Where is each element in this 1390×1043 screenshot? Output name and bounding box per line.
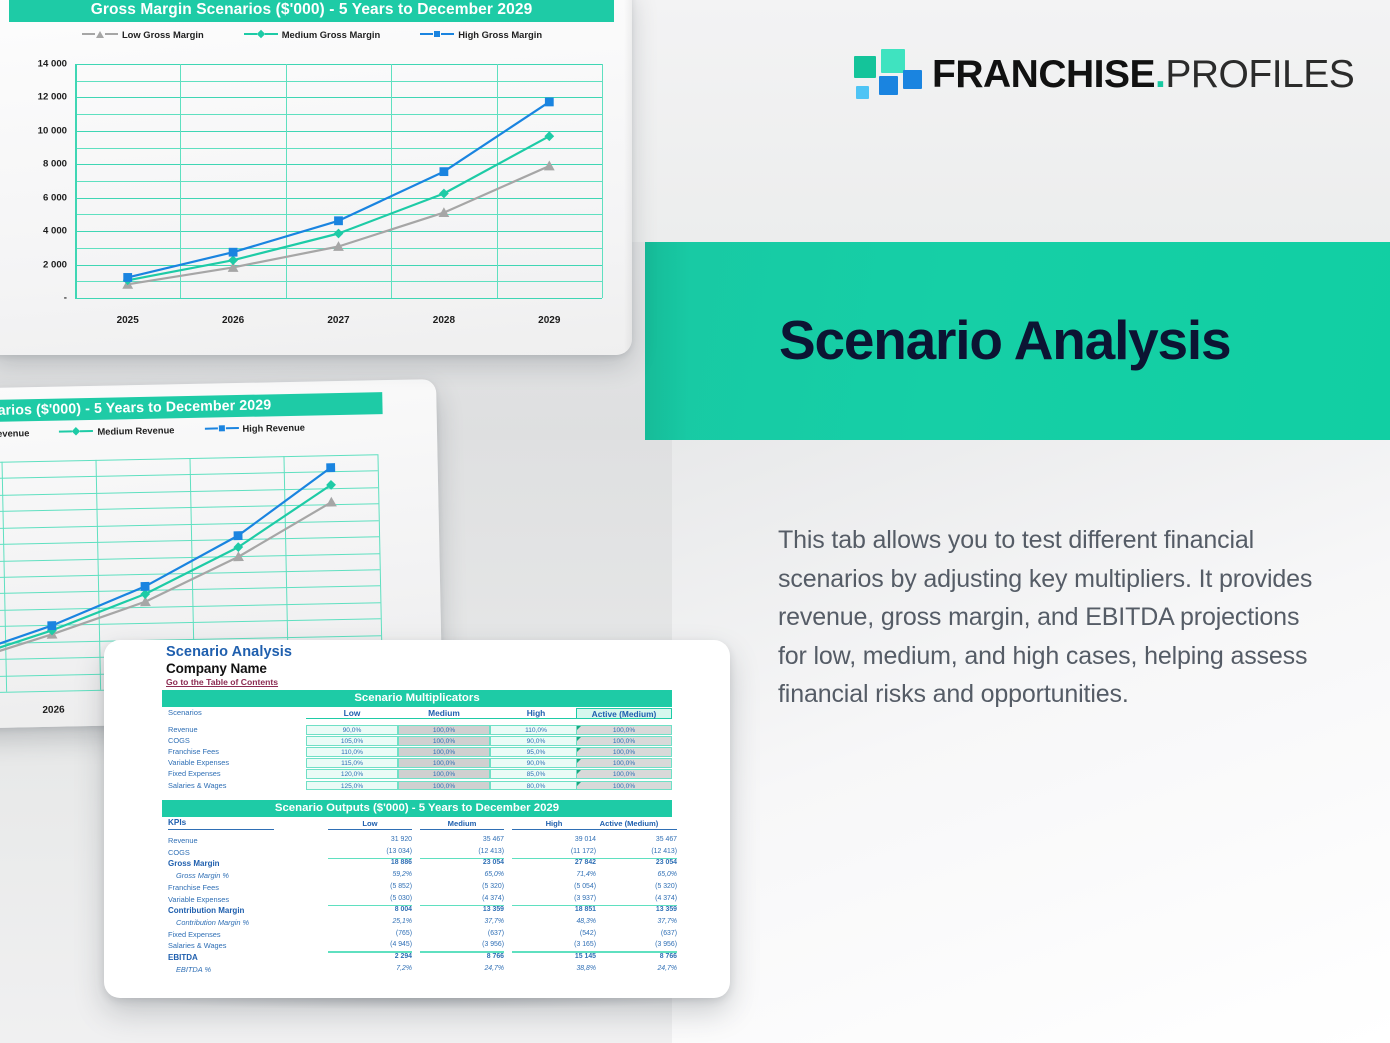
output-cell-medium: 23 054 [420, 859, 504, 866]
multiplicator-cell-high[interactable]: 80,0% [490, 781, 582, 791]
comment-indicator-icon [577, 726, 581, 730]
table-header-row: KPIs Low Medium High Active (Medium) [162, 818, 672, 831]
header-underline [168, 829, 274, 830]
row-label: Revenue [168, 725, 198, 734]
output-cell-low: (13 034) [328, 848, 412, 855]
column-header-active: Active (Medium) [581, 818, 677, 829]
series-line-diamond [128, 136, 550, 280]
legend-marker-diamond [72, 427, 80, 435]
x-axis-tick-label: 2025 [117, 315, 139, 326]
logo-square-teal-dark [854, 56, 876, 78]
table-row: Fixed Expenses120,0%100,0%85,0% 100,0% [162, 769, 672, 780]
table-row: Franchise Fees(5 852)(5 320)(5 054)(5 32… [162, 883, 672, 894]
scenario-analysis-sheet-card: Scenario Analysis Company Name Go to the… [104, 640, 730, 998]
logo-square-blue-mid [879, 76, 898, 95]
legend-line [244, 33, 257, 36]
column-header-active: Active (Medium) [576, 708, 672, 719]
logo-dot: . [1155, 53, 1165, 96]
multiplicator-cell-active[interactable]: 100,0% [576, 747, 672, 757]
teal-banner-edge-shade [645, 242, 691, 440]
table-row: Gross Margin18 88623 05427 84223 054 [162, 859, 672, 870]
multiplicator-cell-high[interactable]: 95,0% [490, 747, 582, 757]
legend-label: Low Revenue [0, 427, 29, 439]
subtotal-rule [420, 951, 504, 952]
legend-label: Medium Gross Margin [282, 29, 380, 40]
y-axis-tick-label: 4 000 [3, 226, 67, 237]
output-cell-active: 23 054 [581, 859, 677, 866]
legend-item-medium-revenue[interactable]: Medium Revenue [59, 424, 174, 437]
legend-line [59, 430, 72, 433]
row-label: Franchise Fees [168, 747, 219, 756]
scenario-multiplicators-band: Scenario Multiplicators [162, 690, 672, 707]
column-header-kpis: KPIs [168, 818, 186, 827]
table-header-row: ScenariosLowMediumHighActive (Medium) [162, 708, 672, 721]
x-axis-tick-label: 2027 [327, 315, 349, 326]
column-header-scenarios: Scenarios [168, 708, 202, 717]
output-cell-medium: 65,0% [420, 871, 504, 878]
y-axis-tick-label: 10 000 [3, 125, 67, 136]
multiplicator-cell-low[interactable]: 120,0% [306, 769, 398, 779]
gross-margin-chart-plot-area [75, 64, 602, 298]
output-cell-low: (765) [328, 930, 412, 937]
multiplicator-cell-low[interactable]: 105,0% [306, 736, 398, 746]
y-axis-tick-label: 8 000 [3, 159, 67, 170]
table-row: EBITDA %7,2%24,7%38,8%24,7% [162, 965, 672, 976]
row-label: Contribution Margin [168, 906, 244, 915]
output-cell-active: 13 359 [581, 906, 677, 913]
multiplicator-cell-high[interactable]: 85,0% [490, 769, 582, 779]
output-cell-medium: (12 413) [420, 848, 504, 855]
logo-word-profiles: PROFILES [1165, 53, 1354, 96]
subtotal-rule [581, 905, 677, 906]
slide-root: ue Scenarios ($'000) - 5 Years to Decemb… [0, 0, 1390, 1043]
multiplicator-cell-active[interactable]: 100,0% [576, 736, 672, 746]
x-axis-tick-label: 2028 [433, 315, 455, 326]
row-label: Revenue [168, 836, 198, 845]
logo-square-blue-right [903, 70, 922, 89]
table-row: Revenue90,0%100,0%110,0% 100,0% [162, 725, 672, 736]
subtotal-rule [420, 905, 504, 906]
table-row: Revenue31 92035 46739 01435 467 [162, 836, 672, 847]
series-layer [75, 64, 602, 298]
header-underline [328, 829, 412, 830]
output-cell-low: (5 852) [328, 883, 412, 890]
legend-label: High Revenue [242, 421, 305, 433]
logo-word-franchise: FRANCHISE [932, 53, 1155, 96]
column-header-low: Low [328, 818, 412, 829]
legend-item-low-gross-margin[interactable]: Low Gross Margin [82, 29, 204, 40]
output-cell-active: 24,7% [581, 965, 677, 972]
legend-item-high-gross-margin[interactable]: High Gross Margin [420, 29, 542, 40]
legend-line [441, 33, 454, 36]
table-row: EBITDA2 2948 76615 1458 766 [162, 953, 672, 964]
legend-marker-square [218, 425, 224, 431]
multiplicator-cell-high[interactable]: 90,0% [490, 758, 582, 768]
multiplicator-cell-active[interactable]: 100,0% [576, 758, 672, 768]
legend-item-medium-gross-margin[interactable]: Medium Gross Margin [244, 29, 380, 40]
multiplicator-cell-medium[interactable]: 100,0% [398, 736, 490, 746]
gross-margin-chart-title: Gross Margin Scenarios ($'000) - 5 Years… [9, 0, 614, 22]
header-underline [581, 829, 677, 830]
output-cell-active: (5 320) [581, 883, 677, 890]
y-axis-tick-label: 6 000 [3, 192, 67, 203]
legend-line [420, 33, 433, 36]
legend-line [82, 33, 95, 36]
legend-line [80, 430, 93, 433]
output-cell-active: (12 413) [581, 848, 677, 855]
output-cell-active: (3 956) [581, 941, 677, 948]
column-header-high: High [490, 708, 582, 719]
table-row: COGS105,0%100,0%90,0% 100,0% [162, 736, 672, 747]
subtotal-rule [581, 858, 677, 859]
multiplicator-cell-high[interactable]: 90,0% [490, 736, 582, 746]
table-row: Salaries & Wages(4 945)(3 956)(3 165)(3 … [162, 941, 672, 952]
table-row: Gross Margin %59,2%65,0%71,4%65,0% [162, 871, 672, 882]
legend-item-high-revenue[interactable]: High Revenue [204, 421, 305, 434]
multiplicator-cell-medium[interactable]: 100,0% [398, 758, 490, 768]
table-row: Contribution Margin %25,1%37,7%48,3%37,7… [162, 918, 672, 929]
table-row: COGS(13 034)(12 413)(11 172)(12 413) [162, 848, 672, 859]
comment-indicator-icon [577, 770, 581, 774]
output-cell-medium: 24,7% [420, 965, 504, 972]
legend-line [204, 427, 217, 430]
legend-line [105, 33, 118, 36]
output-cell-low: 8 004 [328, 906, 412, 913]
legend-marker-triangle [96, 31, 104, 38]
gridline-horizontal [75, 298, 602, 299]
x-axis-tick-label: 2026 [42, 705, 64, 716]
table-row: Salaries & Wages125,0%100,0%80,0% 100,0% [162, 781, 672, 792]
row-label: Salaries & Wages [168, 781, 226, 790]
output-cell-medium: 37,7% [420, 918, 504, 925]
output-cell-active: 37,7% [581, 918, 677, 925]
multiplicator-cell-medium[interactable]: 100,0% [398, 781, 490, 791]
subtotal-rule [328, 905, 412, 906]
subtotal-rule [328, 858, 412, 859]
output-cell-active: (4 374) [581, 895, 677, 902]
output-cell-medium: 8 766 [420, 953, 504, 960]
revenue-chart-legend: Low Revenue Medium Revenue High Revenue [0, 419, 359, 442]
series-line-square [128, 102, 550, 278]
column-header-medium: Medium [420, 818, 504, 829]
table-row: Franchise Fees110,0%100,0%95,0% 100,0% [162, 747, 672, 758]
output-cell-low: 7,2% [328, 965, 412, 972]
multiplicator-cell-active[interactable]: 100,0% [576, 769, 672, 779]
y-axis-tick-label: - [3, 293, 67, 304]
table-row: Contribution Margin8 00413 35918 85113 3… [162, 906, 672, 917]
logo-square-teal-light [881, 49, 905, 73]
row-label: Contribution Margin % [176, 918, 249, 927]
page-description: This tab allows you to test different fi… [778, 521, 1323, 714]
row-label: Salaries & Wages [168, 941, 226, 950]
y-axis-tick-label: 14 000 [3, 59, 67, 70]
output-cell-medium: 35 467 [420, 836, 504, 843]
logo-wordmark: FRANCHISE.PROFILES [932, 49, 1354, 101]
output-cell-active: 65,0% [581, 871, 677, 878]
x-axis-tick-label: 2026 [222, 315, 244, 326]
subtotal-rule [420, 858, 504, 859]
row-label: Franchise Fees [168, 883, 219, 892]
row-label: COGS [168, 848, 190, 857]
multiplicator-cell-medium[interactable]: 100,0% [398, 725, 490, 735]
scenario-outputs-band: Scenario Outputs ($'000) - 5 Years to De… [162, 800, 672, 817]
multiplicator-cell-low[interactable]: 125,0% [306, 781, 398, 791]
table-row: Variable Expenses115,0%100,0%90,0% 100,0… [162, 758, 672, 769]
row-label: Gross Margin [168, 859, 220, 868]
output-cell-low: 18 886 [328, 859, 412, 866]
legend-marker-diamond [256, 30, 264, 38]
page-title: Scenario Analysis [779, 308, 1379, 372]
comment-indicator-icon [577, 759, 581, 763]
output-cell-medium: (3 956) [420, 941, 504, 948]
output-cell-low: 31 920 [328, 836, 412, 843]
output-cell-low: 25,1% [328, 918, 412, 925]
legend-label: Low Gross Margin [122, 29, 204, 40]
y-axis-tick-label: 2 000 [3, 259, 67, 270]
sheet-card-shadow [104, 996, 730, 1010]
row-label: COGS [168, 736, 190, 745]
table-row: Variable Expenses(5 030)(4 374)(3 937)(4… [162, 895, 672, 906]
legend-marker-square [434, 31, 440, 37]
output-cell-low: 59,2% [328, 871, 412, 878]
output-cell-low: (4 945) [328, 941, 412, 948]
table-of-contents-link[interactable]: Go to the Table of Contents [166, 677, 278, 687]
row-label: Fixed Expenses [168, 930, 221, 939]
output-cell-active: (637) [581, 930, 677, 937]
row-label: Fixed Expenses [168, 769, 221, 778]
row-label: Gross Margin % [176, 871, 229, 880]
gridline-vertical [602, 64, 603, 298]
row-label: Variable Expenses [168, 895, 229, 904]
row-label: EBITDA % [176, 965, 211, 974]
sheet-company-name: Company Name [166, 661, 267, 676]
multiplicator-cell-active[interactable]: 100,0% [576, 725, 672, 735]
column-header-low: Low [306, 708, 398, 719]
legend-line [265, 33, 278, 36]
output-cell-active: 8 766 [581, 953, 677, 960]
output-cell-medium: (4 374) [420, 895, 504, 902]
legend-label: Medium Revenue [97, 424, 174, 437]
x-axis-tick-label: 2029 [538, 315, 560, 326]
gross-margin-chart-card: Gross Margin Scenarios ($'000) - 5 Years… [0, 0, 632, 355]
comment-indicator-icon [577, 782, 581, 786]
output-cell-low: 2 294 [328, 953, 412, 960]
row-label: Variable Expenses [168, 758, 229, 767]
output-cell-active: 35 467 [581, 836, 677, 843]
output-cell-medium: 13 359 [420, 906, 504, 913]
logo-square-blue-light [856, 86, 869, 99]
subtotal-rule [328, 951, 412, 952]
subtotal-rule [581, 951, 677, 952]
output-cell-medium: (637) [420, 930, 504, 937]
output-cell-medium: (5 320) [420, 883, 504, 890]
header-underline [420, 829, 504, 830]
row-label: EBITDA [168, 953, 198, 962]
table-row: Fixed Expenses(765)(637)(542)(637) [162, 930, 672, 941]
sheet-heading: Scenario Analysis [166, 644, 292, 660]
comment-indicator-icon [577, 737, 581, 741]
franchise-profiles-logo: FRANCHISE.PROFILES [852, 48, 1352, 106]
output-cell-low: (5 030) [328, 895, 412, 902]
legend-line [225, 427, 238, 430]
legend-item-low-revenue[interactable]: Low Revenue [0, 427, 29, 440]
column-header-medium: Medium [398, 708, 490, 719]
multiplicator-cell-high[interactable]: 110,0% [490, 725, 582, 735]
multiplicator-cell-medium[interactable]: 100,0% [398, 769, 490, 779]
y-axis-tick-label: 12 000 [3, 92, 67, 103]
comment-indicator-icon [577, 748, 581, 752]
multiplicator-cell-low[interactable]: 115,0% [306, 758, 398, 768]
legend-label: High Gross Margin [458, 29, 542, 40]
gross-margin-chart-legend: Low Gross Margin Medium Gross Margin Hig… [92, 27, 532, 41]
multiplicator-cell-medium[interactable]: 100,0% [398, 747, 490, 757]
multiplicator-cell-low[interactable]: 110,0% [306, 747, 398, 757]
multiplicator-cell-active[interactable]: 100,0% [576, 781, 672, 791]
multiplicator-cell-low[interactable]: 90,0% [306, 725, 398, 735]
